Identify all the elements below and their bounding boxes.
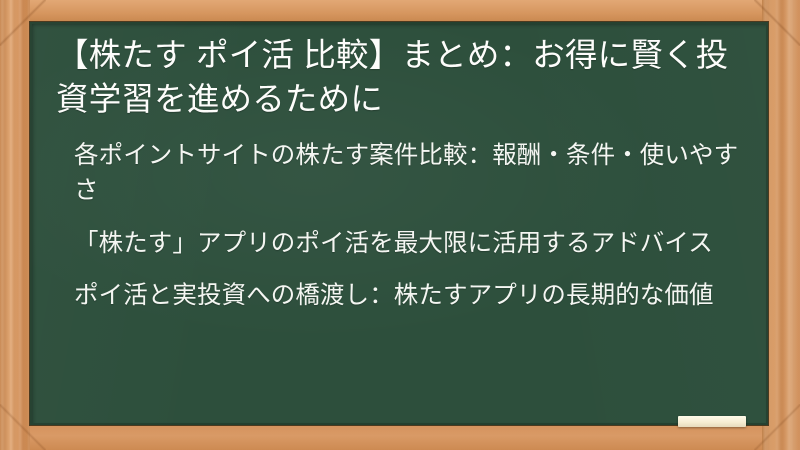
slide-title: 【株たす ポイ活 比較】まとめ：お得に賢く投資学習を進めるために <box>52 30 746 121</box>
slide-canvas: 【株たす ポイ活 比較】まとめ：お得に賢く投資学習を進めるために 各ポイントサイ… <box>0 0 800 450</box>
list-item: ポイ活と実投資への橋渡し：株たすアプリの長期的な価値 <box>74 279 740 314</box>
frame-left-rail <box>0 0 30 450</box>
frame-bottom-ledge <box>0 424 800 450</box>
frame-top-rail <box>0 0 800 22</box>
blackboard-surface: 【株たす ポイ活 比較】まとめ：お得に賢く投資学習を進めるために 各ポイントサイ… <box>30 22 768 425</box>
blackboard-content: 【株たす ポイ活 比較】まとめ：お得に賢く投資学習を進めるために 各ポイントサイ… <box>30 22 768 314</box>
chalk-stick-icon <box>678 416 746 427</box>
slide-bullet-list: 各ポイントサイトの株たす案件比較：報酬・条件・使いやすさ 「株たす」アプリのポイ… <box>52 139 746 314</box>
list-item: 各ポイントサイトの株たす案件比較：報酬・条件・使いやすさ <box>74 139 740 209</box>
list-item: 「株たす」アプリのポイ活を最大限に活用するアドバイス <box>74 227 740 262</box>
